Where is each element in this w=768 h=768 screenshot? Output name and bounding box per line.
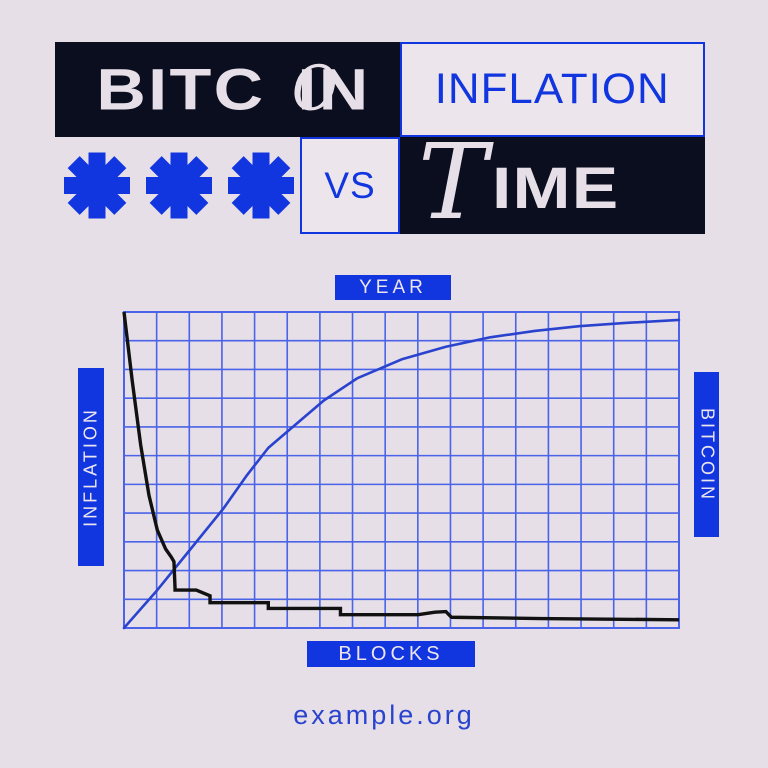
eight-point-star-icon bbox=[63, 152, 131, 220]
chart-left-axis-label: INFLATION bbox=[78, 368, 104, 566]
vs-label: VS bbox=[324, 165, 375, 207]
eight-point-star-icon bbox=[227, 152, 295, 220]
vs-badge: VS bbox=[300, 137, 400, 234]
site-url: example.org bbox=[0, 700, 768, 731]
time-script-t-glyph: T bbox=[418, 137, 487, 233]
chart-top-axis-label: YEAR bbox=[335, 275, 451, 300]
header-row-top: BITCIN O INFLATION bbox=[55, 42, 705, 137]
bitcoin-wordmark: BITCIN O bbox=[96, 56, 359, 123]
bitcoin-title-cell: BITCIN O bbox=[55, 42, 400, 137]
inflation-title-cell: INFLATION bbox=[400, 42, 705, 137]
chart-right-axis-label: BITCOIN bbox=[694, 372, 719, 537]
bitcoin-word-part-1: BITC bbox=[96, 56, 265, 123]
header-row-bottom: VS T IME bbox=[55, 137, 705, 234]
time-title-cell: T IME bbox=[400, 137, 705, 234]
chart-left-axis-label-text: INFLATION bbox=[81, 407, 102, 527]
poster-header: BITCIN O INFLATION VS T IME bbox=[55, 42, 705, 234]
chart-container bbox=[0, 260, 768, 680]
eight-point-star-icon bbox=[145, 152, 213, 220]
chart-bottom-axis-label: BLOCKS bbox=[307, 641, 475, 667]
chart-right-axis-label-text: BITCOIN bbox=[696, 407, 717, 501]
asterisk-decoration-cell bbox=[55, 137, 300, 234]
inflation-wordmark: INFLATION bbox=[435, 65, 670, 114]
time-wordmark-rest: IME bbox=[492, 155, 619, 222]
bitcoin-script-o-glyph: O bbox=[292, 57, 340, 119]
